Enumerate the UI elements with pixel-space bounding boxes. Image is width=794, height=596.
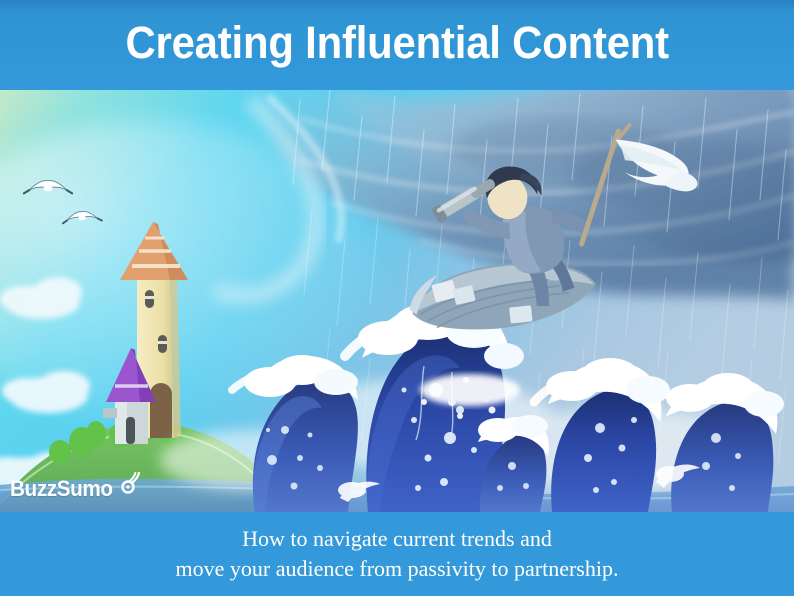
subtitle-line-1: How to navigate current trends and bbox=[242, 524, 552, 554]
buzzsumo-logo[interactable]: BuzzSumo bbox=[10, 470, 142, 500]
slide-footer: How to navigate current trends and move … bbox=[0, 512, 794, 596]
illustration-canvas bbox=[0, 90, 794, 512]
presentation-slide: Creating Influential Content bbox=[0, 0, 794, 596]
subtitle-line-2: move your audience from passivity to par… bbox=[176, 554, 619, 584]
page-title: Creating Influential Content bbox=[125, 20, 668, 65]
logo-wordmark: BuzzSumo bbox=[10, 478, 113, 500]
slide-header: Creating Influential Content bbox=[0, 0, 794, 90]
signal-waves-icon bbox=[120, 472, 142, 499]
hero-illustration bbox=[0, 90, 794, 512]
